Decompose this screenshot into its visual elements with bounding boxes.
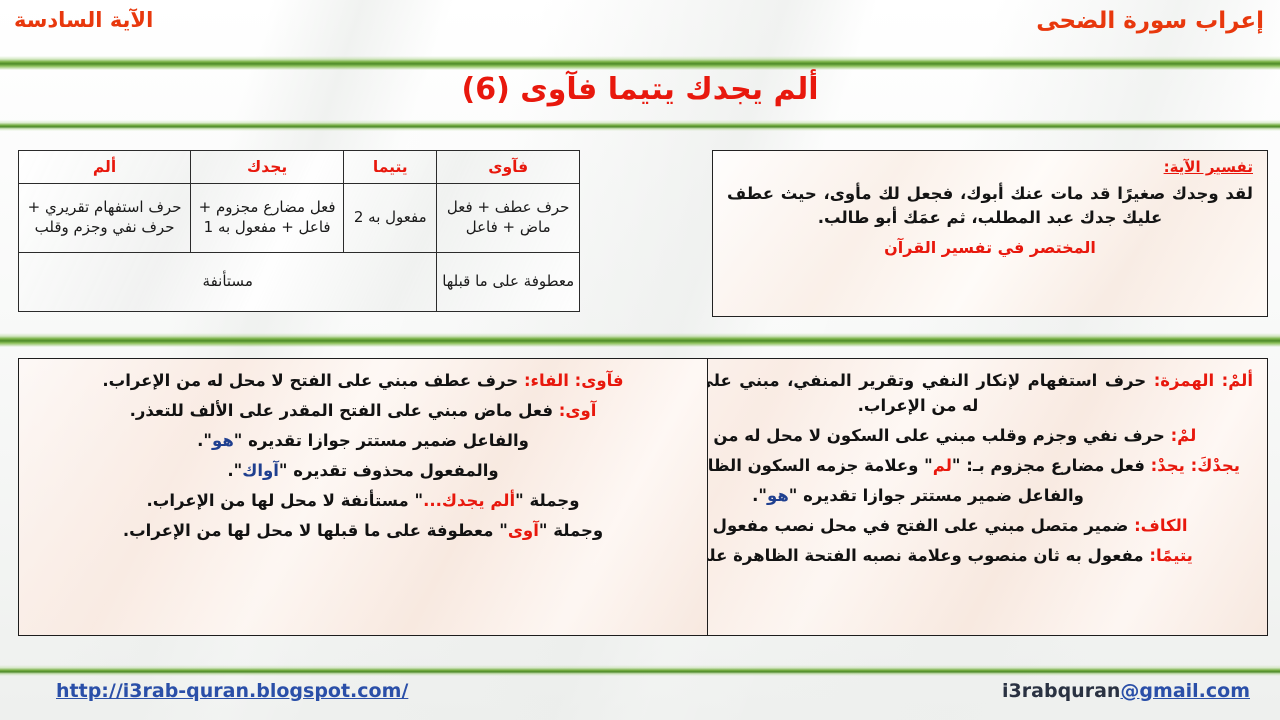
analysis-keyword: هو [767, 486, 789, 505]
analysis-keyword: يتيمًا: [1149, 546, 1193, 565]
analysis-keyword: لم [933, 456, 952, 475]
page-title: إعراب سورة الضحى [1036, 8, 1264, 34]
analysis-keyword: لمْ: [1171, 426, 1197, 445]
analysis-text: فعل ماض مبني على الفتح المقدر على الألف … [130, 401, 559, 420]
table-header-row: فآوى يتيما يجدك ألم [19, 151, 580, 184]
analysis-keyword: ألم يجدك... [423, 491, 515, 510]
analysis-line: وجملة "ألم يجدك..." مستأنفة لا محل لها م… [33, 488, 693, 513]
analysis-line: آوى: فعل ماض مبني على الفتح المقدر على ا… [33, 398, 693, 423]
tafsir-text: لقد وجدك صغيرًا قد مات عنك أبوك، فجعل لك… [727, 182, 1253, 231]
analysis-text: ". [752, 486, 767, 505]
divider-middle [0, 333, 1280, 347]
analysis-line: وجملة "آوى" معطوفة على ما قبلها لا محل ل… [33, 518, 693, 543]
analysis-text: ". [227, 461, 242, 480]
analysis-keyword: آوى: [559, 401, 597, 420]
verse-index-label: الآية السادسة [14, 8, 153, 32]
analysis-keyword: فآوى: الفاء: [524, 371, 624, 390]
analysis-text: والفاعل ضمير مستتر جوازا تقديره " [789, 486, 1084, 505]
analysis-keyword: يجدْكَ: يجدْ: [1151, 456, 1240, 475]
analysis-text: حرف نفي وجزم وقلب مبني على السكون لا محل… [640, 426, 1171, 445]
analysis-text: والمفعول محذوف تقديره " [279, 461, 499, 480]
analysis-text: والفاعل ضمير مستتر جوازا تقديره " [234, 431, 529, 450]
analysis-text: وجملة " [515, 491, 579, 510]
cell-clause-aawa: معطوفة على ما قبلها [437, 253, 580, 312]
table-header-yajid: يجدك [191, 151, 344, 184]
analysis-line: والمفعول محذوف تقديره "آواك". [33, 458, 693, 483]
table-header-alam: ألم [19, 151, 191, 184]
tafsir-label: تفسير الآية: [727, 158, 1253, 176]
analysis-keyword: ألمْ: الهمزة: [1154, 371, 1253, 390]
table-header-aawa: فآوى [437, 151, 580, 184]
analysis-box-faawa: فآوى: الفاء: حرف عطف مبني على الفتح لا م… [18, 358, 708, 636]
divider-bottom [0, 665, 1280, 676]
analysis-line: والفاعل ضمير مستتر جوازا تقديره "هو". [33, 428, 693, 453]
table-header-yatim: يتيما [344, 151, 437, 184]
table-row: حرف عطف + فعل ماض + فاعل مفعول به 2 فعل … [19, 184, 580, 253]
tafsir-source: المختصر في تفسير القرآن [727, 238, 1253, 257]
irab-summary-table: فآوى يتيما يجدك ألم حرف عطف + فعل ماض + … [18, 150, 580, 312]
analysis-text: فعل مضارع مجزوم بـ: " [952, 456, 1151, 475]
cell-clause-rest: مستأنفة [19, 253, 437, 312]
header-band: إعراب سورة الضحى الآية السادسة [0, 0, 1280, 56]
cell-analysis-alam: حرف استفهام تقريري + حرف نفي وجزم وقلب [19, 184, 191, 253]
email-user-part: i3rabquran [1002, 680, 1120, 702]
divider-top [0, 56, 1280, 70]
ayah-title: ألم يجدك يتيما فآوى (6) [0, 72, 1280, 107]
blog-url-link[interactable]: http://i3rab-quran.blogspot.com/ [56, 680, 408, 702]
analysis-text: حرف عطف مبني على الفتح لا محل له من الإع… [102, 371, 524, 390]
analysis-keyword: آوى [508, 521, 539, 540]
table-row: معطوفة على ما قبلها مستأنفة [19, 253, 580, 312]
divider-under-title [0, 120, 1280, 131]
analysis-text: وجملة " [539, 521, 603, 540]
cell-analysis-aawa: حرف عطف + فعل ماض + فاعل [437, 184, 580, 253]
analysis-text: " معطوفة على ما قبلها لا محل لها من الإع… [123, 521, 508, 540]
analysis-text: ضمير متصل مبني على الفتح في محل نصب مفعو… [648, 516, 1134, 535]
email-domain-part: @gmail.com [1120, 680, 1250, 702]
analysis-keyword: الكاف: [1134, 516, 1187, 535]
cell-analysis-yajid: فعل مضارع مجزوم + فاعل + مفعول به 1 [191, 184, 344, 253]
analysis-keyword: هو [212, 431, 234, 450]
analysis-text: " مستأنفة لا محل لها من الإعراب. [147, 491, 424, 510]
slide-background: إعراب سورة الضحى الآية السادسة ألم يجدك … [0, 0, 1280, 720]
footer: http://i3rab-quran.blogspot.com/ i3rabqu… [0, 676, 1280, 720]
analysis-text: ". [197, 431, 212, 450]
analysis-keyword: آواك [242, 461, 279, 480]
analysis-text: مفعول به ثان منصوب وعلامة نصبه الفتحة ال… [643, 546, 1149, 565]
cell-analysis-yatim: مفعول به 2 [344, 184, 437, 253]
email-address[interactable]: i3rabquran@gmail.com [1002, 680, 1250, 702]
analysis-line: فآوى: الفاء: حرف عطف مبني على الفتح لا م… [33, 368, 693, 393]
tafsir-box: تفسير الآية: لقد وجدك صغيرًا قد مات عنك … [712, 150, 1268, 317]
